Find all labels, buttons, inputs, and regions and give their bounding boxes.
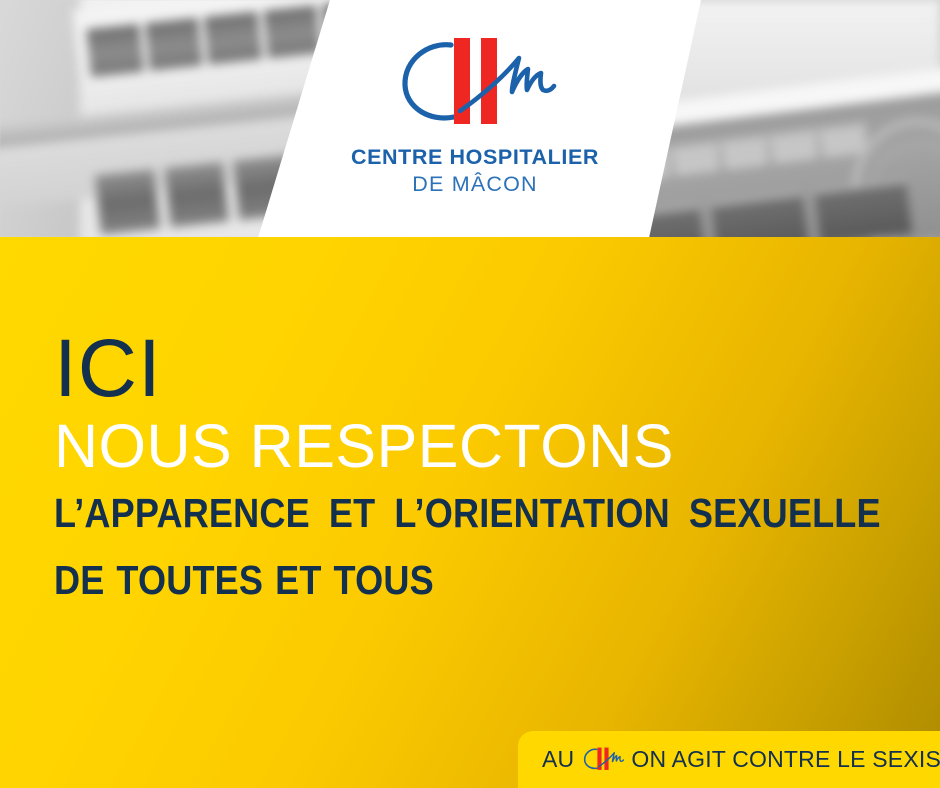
bottom-banner: AU ON AGIT CONTRE LE SEXISME (518, 731, 940, 788)
hospital-logo: CENTRE HOSPITALIER DE MÂCON (330, 32, 620, 199)
poster-root: CENTRE HOSPITALIER DE MÂCON ICI NOUS RES… (0, 0, 940, 788)
banner-suffix-text: ON AGIT CONTRE LE SEXISME (631, 748, 940, 771)
logo-text-line-2: DE MÂCON (330, 170, 620, 199)
bottom-banner-row: AU ON AGIT CONTRE LE SEXISME (542, 747, 940, 773)
header-photo-band: CENTRE HOSPITALIER DE MÂCON (0, 0, 940, 237)
message-block: ICI NOUS RESPECTONS L’APPARENCE ET L’ORI… (54, 330, 934, 601)
logo-text-line-1: CENTRE HOSPITALIER (330, 146, 620, 170)
headline-bold-line-2: DE TOUTES ET TOUS (54, 560, 828, 601)
headline-nous-respectons: NOUS RESPECTONS (54, 416, 934, 477)
chm-logo-mark-icon (388, 32, 563, 132)
yellow-body: ICI NOUS RESPECTONS L’APPARENCE ET L’ORI… (0, 237, 940, 788)
headline-bold-line-1: L’APPARENCE ET L’ORIENTATION SEXUELLE (54, 493, 828, 534)
chm-logo-mark-small-icon (580, 746, 626, 772)
banner-prefix-text: AU (542, 748, 574, 771)
headline-ici: ICI (54, 330, 934, 408)
